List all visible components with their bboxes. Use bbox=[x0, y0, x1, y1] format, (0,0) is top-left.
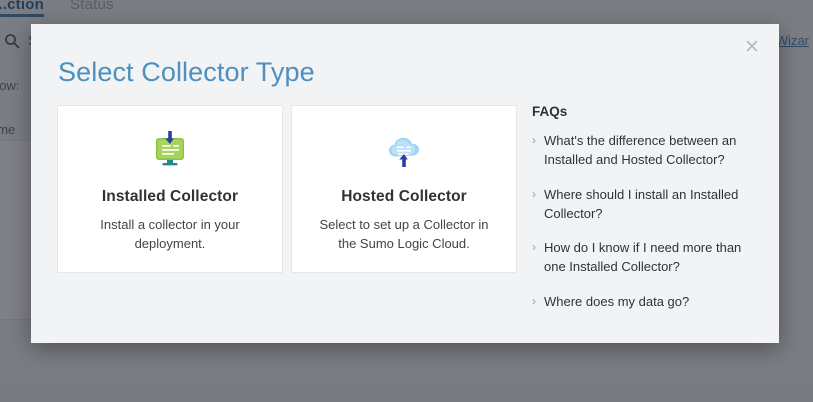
faq-item[interactable]: › What's the difference between an Insta… bbox=[532, 132, 757, 170]
chevron-right-icon: › bbox=[532, 186, 536, 224]
chevron-right-icon: › bbox=[532, 239, 536, 277]
dialog-title: Select Collector Type bbox=[58, 57, 315, 88]
faq-item-label: How do I know if I need more than one In… bbox=[544, 239, 757, 277]
faqs-section: FAQs › What's the difference between an … bbox=[532, 104, 757, 328]
screen-root: ...ction Status S Wizar how: ame o Coll … bbox=[0, 0, 813, 402]
faq-item-label: Where should I install an Installed Coll… bbox=[544, 186, 757, 224]
faq-item[interactable]: › Where does my data go? bbox=[532, 293, 757, 312]
card-installed-collector[interactable]: Installed Collector Install a collector … bbox=[57, 105, 283, 273]
faq-item-label: What's the difference between an Install… bbox=[544, 132, 757, 170]
chevron-right-icon: › bbox=[532, 132, 536, 170]
installed-collector-monitor-icon bbox=[147, 128, 193, 176]
card-installed-collector-title: Installed Collector bbox=[102, 188, 238, 206]
card-hosted-collector[interactable]: Hosted Collector Select to set up a Coll… bbox=[291, 105, 517, 273]
select-collector-type-dialog: ✕ Select Collector Type bbox=[31, 24, 779, 343]
hosted-collector-cloud-icon bbox=[381, 128, 427, 176]
faq-item-label: Where does my data go? bbox=[544, 293, 689, 312]
card-installed-collector-description: Install a collector in your deployment. bbox=[78, 216, 263, 254]
faq-item[interactable]: › How do I know if I need more than one … bbox=[532, 239, 757, 277]
close-icon[interactable]: ✕ bbox=[741, 36, 763, 58]
faq-item[interactable]: › Where should I install an Installed Co… bbox=[532, 186, 757, 224]
card-hosted-collector-description: Select to set up a Collector in the Sumo… bbox=[312, 216, 497, 254]
faqs-heading: FAQs bbox=[532, 104, 757, 119]
card-hosted-collector-title: Hosted Collector bbox=[341, 188, 467, 206]
collector-type-cards: Installed Collector Install a collector … bbox=[57, 105, 517, 273]
chevron-right-icon: › bbox=[532, 293, 536, 312]
